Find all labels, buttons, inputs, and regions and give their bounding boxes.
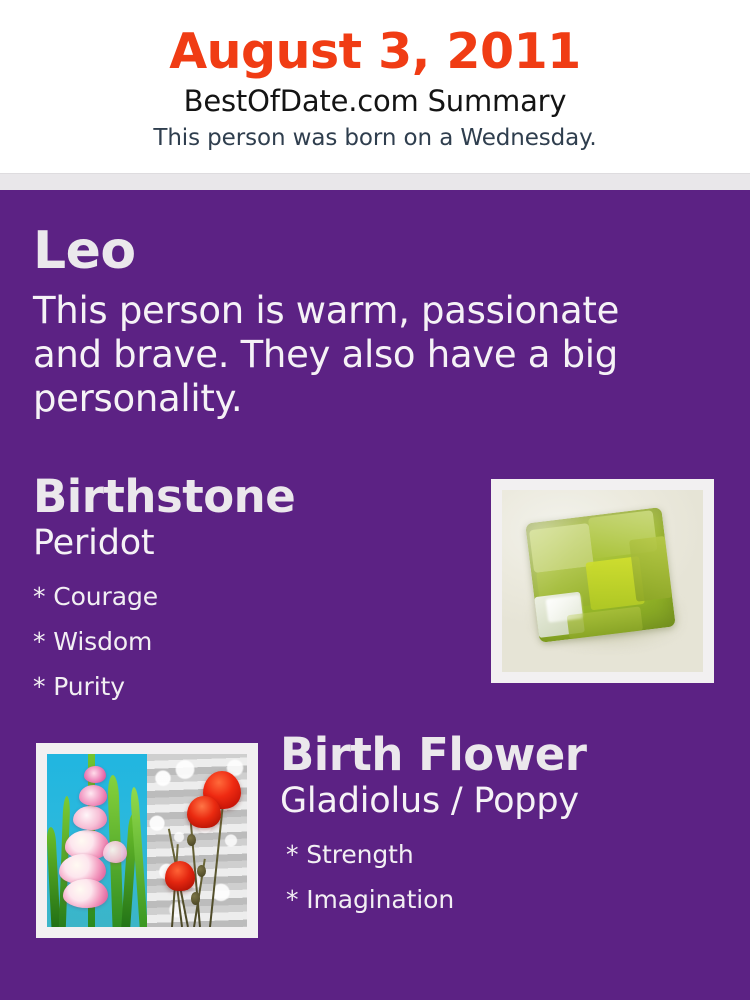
birth-flower-section: Birth Flower Gladiolus / Poppy * Strengt…: [280, 730, 730, 922]
birthstone-name: Peridot: [33, 522, 463, 564]
site-subtitle: BestOfDate.com Summary: [0, 78, 750, 118]
zodiac-description: This person is warm, passionate and brav…: [33, 279, 683, 421]
birth-flower-heading: Birth Flower: [280, 730, 730, 780]
gladiolus-bloom: [79, 785, 107, 806]
birthstone-image: [491, 479, 714, 683]
gem-highlight: [546, 595, 584, 623]
header-divider: [0, 173, 750, 190]
list-item: * Courage: [33, 574, 463, 619]
birthdate-summary-card: August 3, 2011 BestOfDate.com Summary Th…: [0, 0, 750, 1000]
poppy-photo-half: [147, 754, 247, 927]
peridot-gemstone-photo: [502, 490, 703, 672]
birth-flower-image: [36, 743, 258, 938]
birth-weekday-text: This person was born on a Wednesday.: [0, 118, 750, 152]
gladiolus-photo-half: [47, 754, 147, 927]
list-item: * Imagination: [280, 877, 730, 922]
poppy-bloom: [187, 796, 221, 829]
gladiolus-poppy-photo: [47, 754, 247, 927]
content-panel: Leo This person is warm, passionate and …: [0, 190, 750, 1000]
birthstone-section: Birthstone Peridot * Courage * Wisdom * …: [33, 472, 463, 709]
gladiolus-bloom: [84, 766, 106, 783]
list-item: * Purity: [33, 664, 463, 709]
birth-flower-trait-list: * Strength * Imagination: [280, 822, 730, 922]
birthstone-heading: Birthstone: [33, 472, 463, 522]
gladiolus-bloom: [103, 841, 127, 863]
poppy-bud: [197, 865, 206, 877]
peridot-crystal-icon: [525, 508, 675, 644]
gladiolus-bloom: [73, 806, 107, 830]
birth-flower-name: Gladiolus / Poppy: [280, 780, 730, 822]
poppy-bloom: [165, 861, 195, 890]
gem-facet: [629, 536, 672, 602]
page-title: August 3, 2011: [0, 0, 750, 78]
card-header: August 3, 2011 BestOfDate.com Summary Th…: [0, 0, 750, 173]
list-item: * Strength: [280, 832, 730, 877]
zodiac-sign-name: Leo: [33, 223, 693, 279]
poppy-bud: [191, 892, 200, 904]
list-item: * Wisdom: [33, 619, 463, 664]
gladiolus-bloom: [63, 879, 108, 908]
birthstone-trait-list: * Courage * Wisdom * Purity: [33, 564, 463, 709]
poppy-bud: [187, 834, 196, 846]
zodiac-section: Leo This person is warm, passionate and …: [33, 223, 693, 421]
